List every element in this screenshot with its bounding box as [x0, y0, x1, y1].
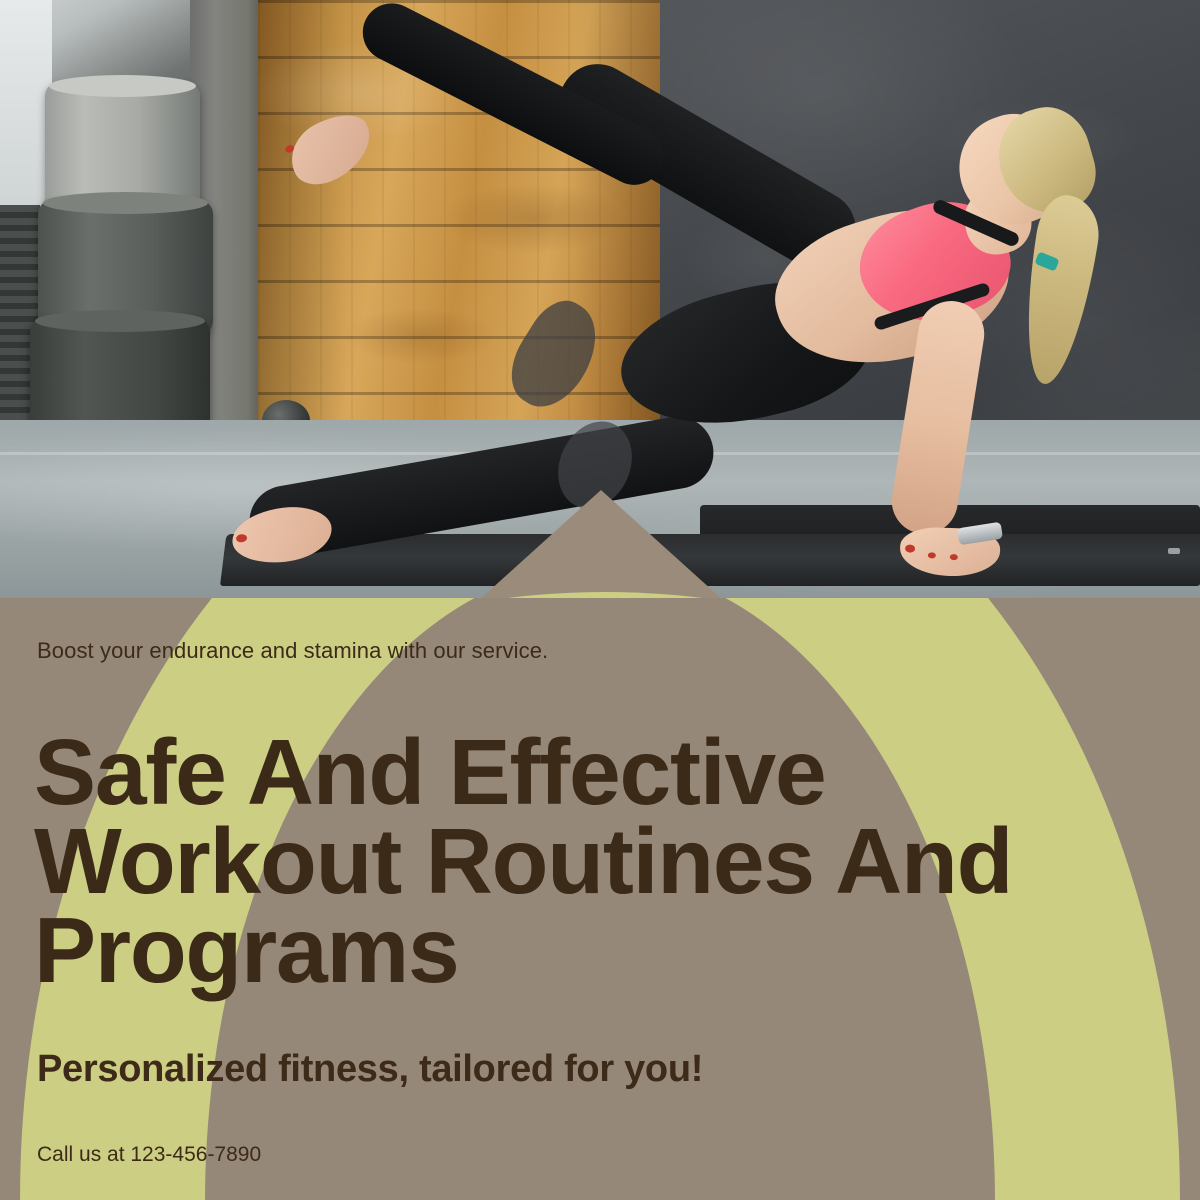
promo-poster: Boost your endurance and stamina with ou… — [0, 0, 1200, 1200]
triangle-accent-shape — [479, 490, 723, 600]
subheading: Personalized fitness, tailored for you! — [37, 1048, 703, 1091]
page-title: Safe And Effective Workout Routines And … — [34, 728, 1034, 995]
contact-phone[interactable]: Call us at 123-456-7890 — [37, 1143, 261, 1167]
text-content: Boost your endurance and stamina with ou… — [0, 598, 1200, 1200]
tagline: Boost your endurance and stamina with ou… — [37, 638, 548, 664]
photo-yoga-mat-tag — [1168, 548, 1180, 554]
